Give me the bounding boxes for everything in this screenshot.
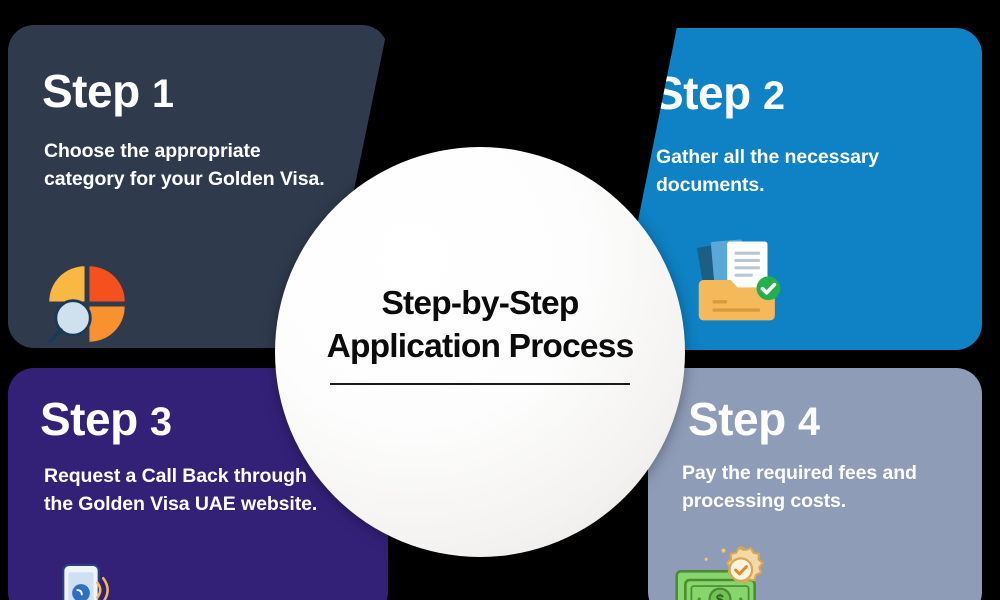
- infographic-canvas: Step 1 Choose the appropriate category f…: [0, 0, 1000, 600]
- step-3-description: Request a Call Back through the Golden V…: [44, 463, 339, 518]
- step-1-description: Choose the appropriate category for your…: [44, 138, 334, 193]
- step-4-title-number: 4: [798, 400, 820, 444]
- center-badge-text: Step-by-Step Application Process: [308, 283, 652, 386]
- step-4-description: Pay the required fees and processing cos…: [682, 460, 982, 515]
- step-3-title-number: 3: [150, 400, 172, 444]
- call-back-phone-icon: [44, 556, 118, 600]
- step-2-description: Gather all the necessary documents.: [656, 144, 938, 199]
- step-1-title: Step 1: [42, 68, 173, 115]
- center-title-line-2: Application Process: [308, 326, 652, 369]
- documents-folder-check-icon: [694, 236, 786, 324]
- money-gear-check-icon: $: [668, 536, 772, 600]
- center-title-underline: [330, 383, 630, 385]
- svg-text:$: $: [716, 592, 724, 600]
- step-3-title: Step 3: [40, 396, 171, 443]
- step-2-title-number: 2: [763, 74, 785, 118]
- step-card-4[interactable]: Step 4 Pay the required fees and process…: [648, 368, 982, 600]
- step-4-title-word: Step: [688, 393, 786, 445]
- step-1-title-number: 1: [152, 72, 174, 116]
- pie-chart-magnifier-icon: [46, 263, 128, 345]
- step-1-title-word: Step: [42, 65, 140, 117]
- step-3-title-word: Step: [40, 393, 138, 445]
- step-2-title: Step 2: [653, 70, 784, 117]
- step-card-4-content: Step 4 Pay the required fees and process…: [648, 368, 982, 600]
- step-2-title-word: Step: [653, 67, 751, 119]
- center-badge: Step-by-Step Application Process: [275, 147, 685, 557]
- step-4-title: Step 4: [688, 396, 819, 443]
- center-title-line-1: Step-by-Step: [308, 283, 652, 326]
